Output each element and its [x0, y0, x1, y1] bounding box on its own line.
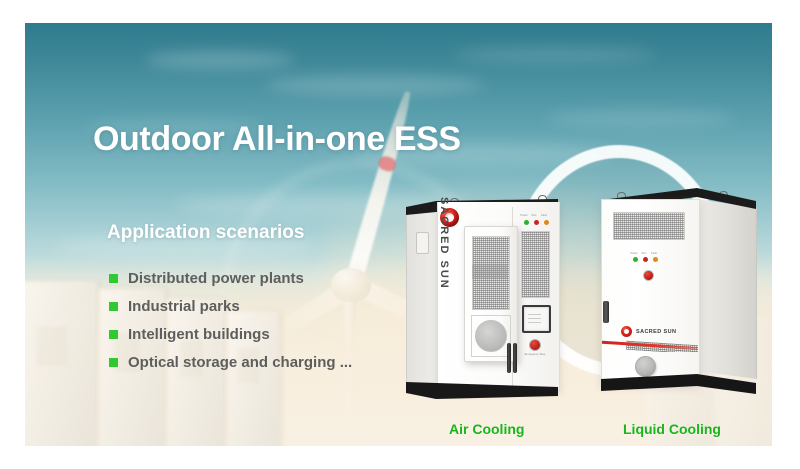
led-run-icon: [534, 220, 539, 225]
accent-stripe: [602, 338, 698, 352]
led-label-run: Run: [530, 214, 538, 217]
cabinet-side-panel: [406, 208, 439, 391]
cabinet-side-panel: [697, 194, 757, 379]
bullet-square-icon: [109, 358, 118, 367]
air-conditioner-module: [464, 226, 518, 362]
brand-name-vertical: SACRED SUN: [438, 197, 450, 293]
led-label-fault: Fault: [650, 252, 658, 255]
list-item-label: Intelligent buildings: [128, 326, 270, 343]
section-subtitle: Application scenarios: [107, 222, 304, 244]
led-label-fault: Fault: [540, 214, 548, 217]
ac-grill-band: [472, 265, 508, 279]
banner-root: SACRED SUN Power Run Fault: [0, 0, 800, 469]
ac-fan-icon: [475, 320, 507, 352]
led-label-power: Power: [520, 214, 528, 217]
background-cabinet-marking: [36, 328, 67, 368]
brand-lockup: SACRED SUN: [621, 326, 676, 337]
control-panel: Power Run Fault Emergency Stop: [518, 213, 552, 381]
background-cabinet: [25, 281, 97, 446]
emergency-stop-button[interactable]: [643, 270, 654, 281]
application-scenario-list: Distributed power plants Industrial park…: [109, 264, 352, 376]
list-item-label: Optical storage and charging ...: [128, 354, 352, 371]
door-handle[interactable]: [603, 301, 609, 323]
bullet-square-icon: [109, 330, 118, 339]
emergency-stop-button[interactable]: [529, 339, 541, 351]
led-fault-icon: [653, 257, 658, 262]
product-caption-liquid-cooling: Liquid Cooling: [623, 421, 721, 437]
side-latch: [416, 232, 429, 254]
led-power-icon: [633, 257, 638, 262]
page-title: Outdoor All-in-one ESS: [93, 120, 461, 159]
list-item-label: Industrial parks: [128, 298, 240, 315]
ventilation-grill: [521, 231, 550, 298]
list-item: Intelligent buildings: [109, 320, 352, 348]
list-item-label: Distributed power plants: [128, 270, 304, 287]
product-banner-artwork: SACRED SUN Power Run Fault: [25, 23, 772, 446]
brand-logo-icon: [621, 326, 632, 337]
ventilation-grill: [613, 212, 685, 240]
product-air-cooling-cabinet: SACRED SUN Power Run Fault: [406, 199, 558, 399]
led-label-run: Run: [640, 252, 648, 255]
led-run-icon: [643, 257, 648, 262]
service-port-knob[interactable]: [635, 356, 656, 377]
product-liquid-cooling-cabinet: Power Run Fault SACRED SUN: [601, 188, 756, 401]
door-handle[interactable]: [507, 343, 511, 373]
led-caption-row: Power Run Fault: [630, 252, 658, 255]
bullet-square-icon: [109, 302, 118, 311]
list-item: Industrial parks: [109, 292, 352, 320]
brand-name: SACRED SUN: [636, 329, 676, 335]
list-item: Optical storage and charging ...: [109, 348, 352, 376]
emergency-stop-label: Emergency Stop: [520, 352, 550, 356]
status-led-row: [633, 257, 658, 262]
led-fault-icon: [544, 220, 549, 225]
bullet-square-icon: [109, 274, 118, 283]
led-caption-row: Power Run Fault: [520, 214, 548, 217]
door-handle[interactable]: [513, 343, 517, 373]
led-label-power: Power: [630, 252, 638, 255]
product-caption-air-cooling: Air Cooling: [449, 421, 524, 437]
status-led-row: [524, 220, 549, 225]
list-item: Distributed power plants: [109, 264, 352, 292]
led-power-icon: [524, 220, 529, 225]
display-screen[interactable]: [522, 305, 551, 333]
